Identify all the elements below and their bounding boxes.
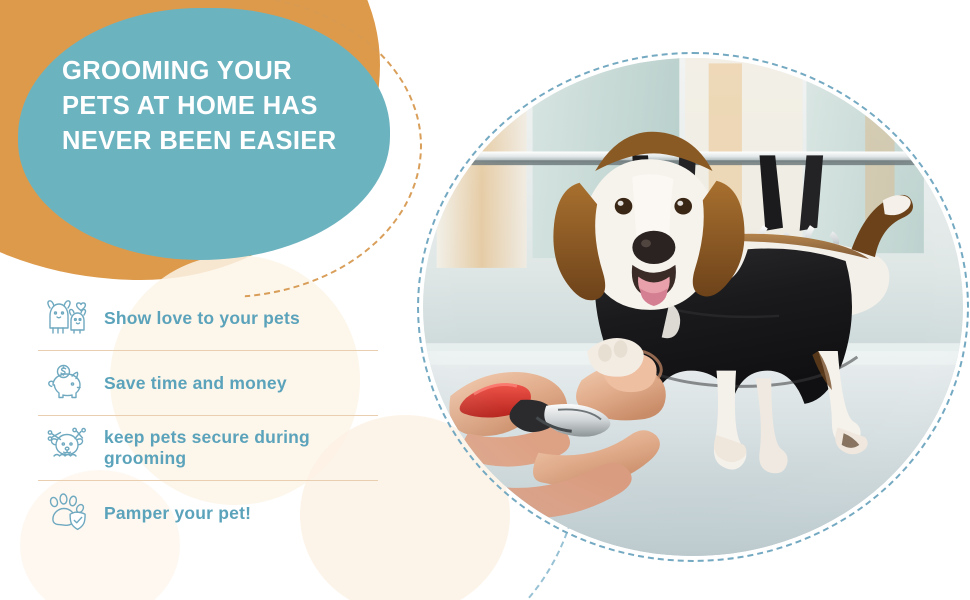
headline-line-3: NEVER BEEN EASIER: [62, 124, 392, 159]
feature-list: Show love to your pets Save time and mon…: [38, 286, 378, 545]
feature-item-pamper-your-pet: Pamper your pet!: [38, 480, 378, 545]
dog-and-cat-heart-icon: [38, 292, 100, 344]
headline: GROOMING YOUR PETS AT HOME HAS NEVER BEE…: [62, 54, 392, 159]
product-infographic-banner: GROOMING YOUR PETS AT HOME HAS NEVER BEE…: [0, 0, 970, 600]
feature-item-show-love: Show love to your pets: [38, 286, 378, 350]
feature-label: Pamper your pet!: [100, 503, 251, 524]
piggy-bank-dollar-icon: [38, 357, 100, 409]
feature-label: Show love to your pets: [100, 308, 300, 329]
beagle-in-grooming-hammock-photo: [423, 58, 963, 556]
feature-item-keep-pets-secure: keep pets secure during grooming: [38, 415, 378, 480]
dog-grooming-scissors-icon: [38, 422, 100, 474]
feature-label: Save time and money: [100, 373, 287, 394]
feature-item-save-time-money: Save time and money: [38, 350, 378, 415]
product-photo: [417, 52, 969, 562]
feature-label: keep pets secure during grooming: [100, 427, 378, 469]
photo-clip-mask: [423, 58, 963, 556]
headline-line-2: PETS AT HOME HAS: [62, 89, 392, 124]
headline-line-1: GROOMING YOUR: [62, 54, 392, 89]
paw-shield-check-icon: [38, 487, 100, 539]
